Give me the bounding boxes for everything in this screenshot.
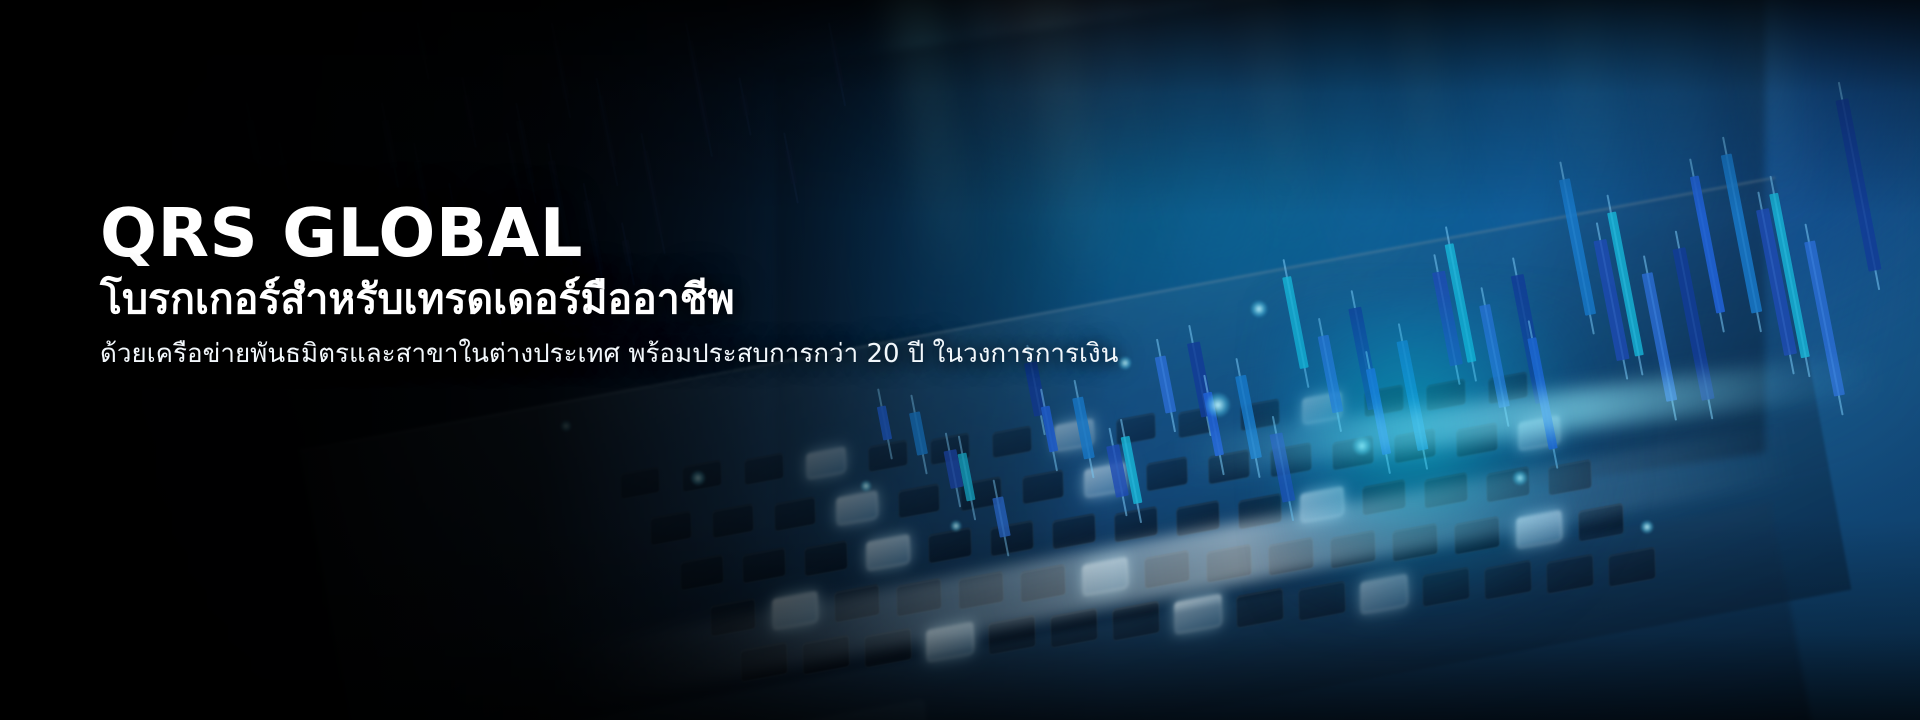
hero-copy: QRS GLOBAL โบรกเกอร์สำหรับเทรดเดอร์มืออา… bbox=[100, 196, 1350, 374]
hero-headline: โบรกเกอร์สำหรับเทรดเดอร์มืออาชีพ bbox=[100, 272, 1350, 326]
hero-banner: QRS GLOBAL โบรกเกอร์สำหรับเทรดเดอร์มืออา… bbox=[0, 0, 1920, 720]
hero-subline: ด้วยเครือข่ายพันธมิตรและสาขาในต่างประเทศ… bbox=[100, 334, 1350, 374]
page-title: QRS GLOBAL bbox=[100, 196, 1350, 270]
